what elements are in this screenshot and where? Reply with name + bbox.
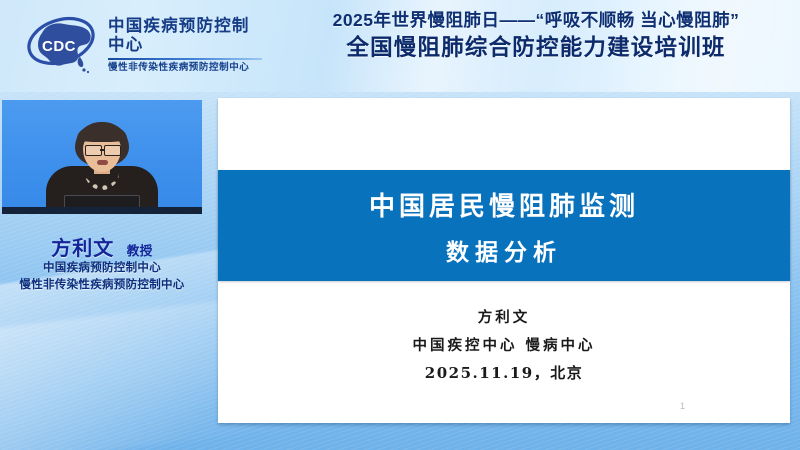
logo-divider bbox=[108, 58, 262, 60]
event-title-line-1: 2025年世界慢阻肺日——“呼吸不顺畅 当心慢阻肺” bbox=[282, 8, 790, 33]
speaker-mouth bbox=[97, 160, 108, 165]
presentation-slide[interactable]: 中国居民慢阻肺监测 数据分析 方利文 中国疾控中心 慢病中心 2025.11.1… bbox=[218, 98, 790, 423]
slide-title-line-1: 中国居民慢阻肺监测 bbox=[218, 170, 790, 223]
event-title-block: 2025年世界慢阻肺日——“呼吸不顺畅 当心慢阻肺” 全国慢阻肺综合防控能力建设… bbox=[282, 8, 790, 64]
logo-org-name: 中国疾病预防控制中心 bbox=[108, 17, 262, 55]
china-map-cdc-icon: CDC bbox=[22, 13, 100, 75]
speaker-video-feed[interactable] bbox=[2, 100, 202, 214]
speaker-glasses-bridge bbox=[100, 149, 105, 151]
speaker-glasses-left bbox=[85, 145, 102, 156]
slide-byline-date: 2025.11.19，北京 bbox=[218, 359, 790, 388]
slide-title-line-2: 数据分析 bbox=[218, 223, 790, 267]
svg-text:CDC: CDC bbox=[42, 38, 76, 55]
event-title-line-2: 全国慢阻肺综合防控能力建设培训班 bbox=[282, 33, 790, 63]
slide-title-band: 中国居民慢阻肺监测 数据分析 bbox=[218, 170, 790, 281]
speaker-glasses-right bbox=[104, 145, 121, 156]
china-cdc-logo: CDC 中国疾病预防控制中心 慢性非传染性疾病预防控制中心 bbox=[22, 10, 262, 78]
presentation-stream-window: CDC 中国疾病预防控制中心 慢性非传染性疾病预防控制中心 2025年世界慢阻肺… bbox=[0, 0, 800, 450]
speaker-affiliation: 中国疾病预防控制中心 慢性非传染性疾病预防控制中心 bbox=[0, 260, 204, 295]
speaker-name: 方利文 bbox=[51, 238, 114, 260]
slide-byline-org: 中国疾控中心 慢病中心 bbox=[218, 332, 790, 360]
speaker-name-row: 方利文 教授 bbox=[0, 232, 204, 261]
logo-text-block: 中国疾病预防控制中心 慢性非传染性疾病预防控制中心 bbox=[108, 15, 262, 74]
event-header-banner: CDC 中国疾病预防控制中心 慢性非传染性疾病预防控制中心 2025年世界慢阻肺… bbox=[0, 0, 800, 92]
speaker-affiliation-line-1: 中国疾病预防控制中心 bbox=[0, 260, 204, 277]
slide-byline-name: 方利文 bbox=[218, 304, 790, 332]
logo-org-subname: 慢性非传染性疾病预防控制中心 bbox=[108, 63, 262, 74]
speaker-role: 教授 bbox=[127, 244, 153, 258]
slide-page-number: 1 bbox=[680, 401, 685, 411]
desk-edge bbox=[2, 207, 202, 214]
speaker-affiliation-line-2: 慢性非传染性疾病预防控制中心 bbox=[0, 277, 204, 294]
slide-byline: 方利文 中国疾控中心 慢病中心 2025.11.19，北京 bbox=[218, 304, 790, 388]
